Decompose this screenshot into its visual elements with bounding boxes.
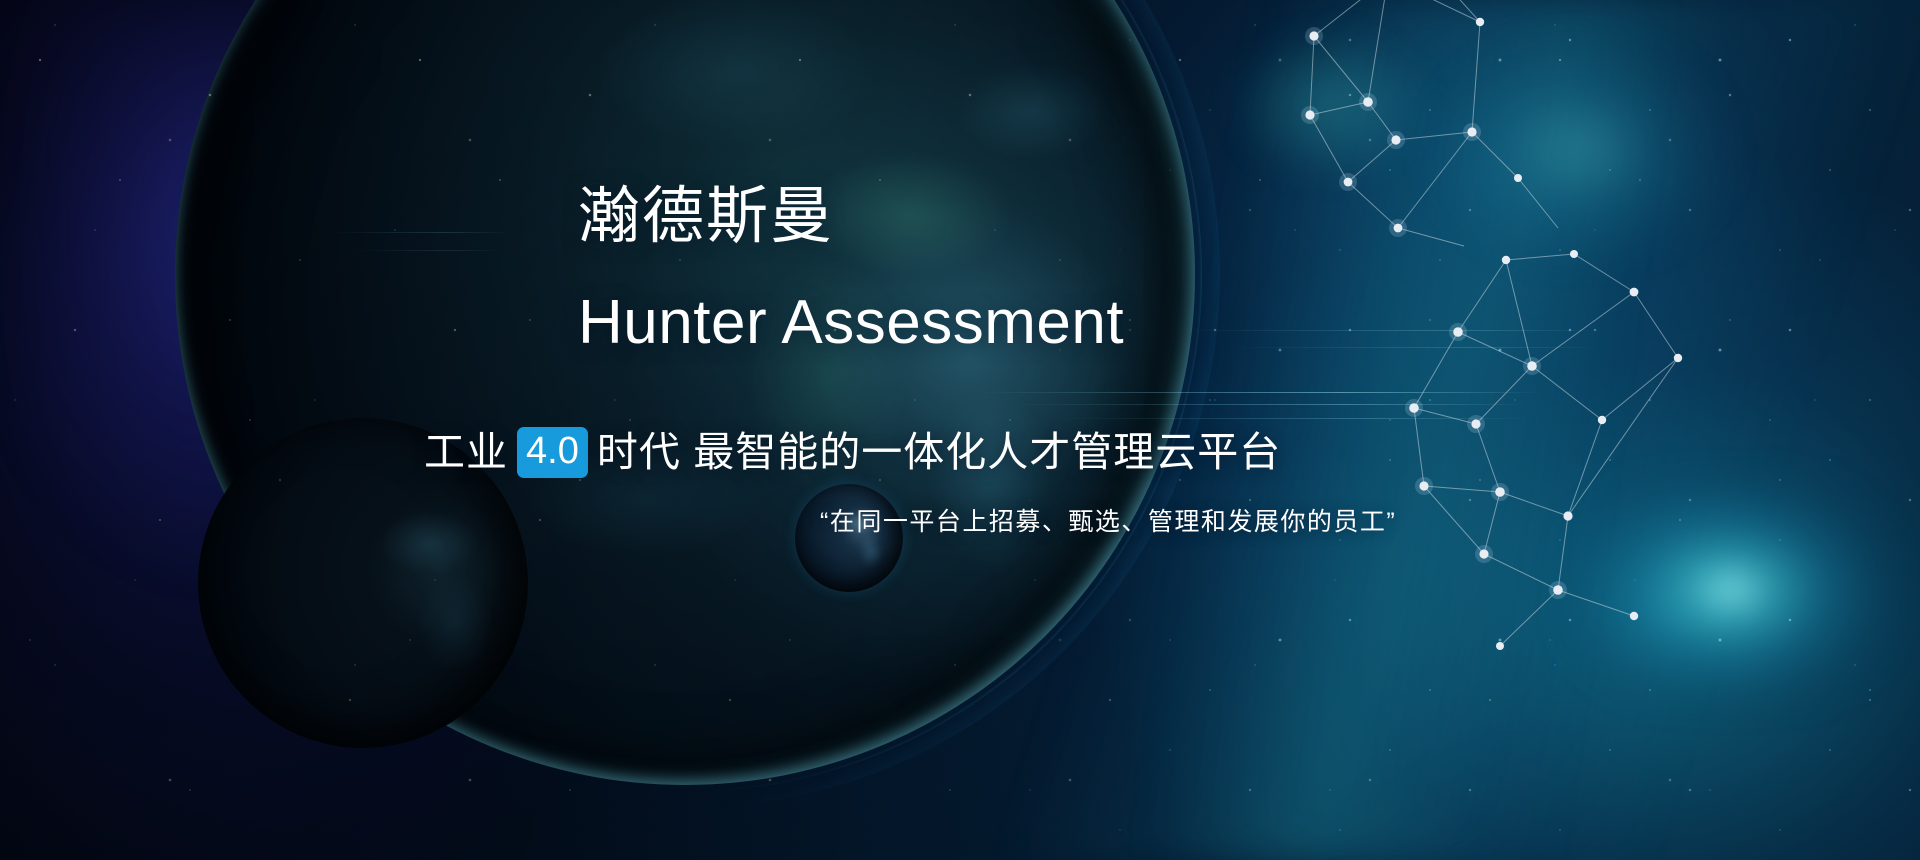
brand-title-english: Hunter Assessment [578,292,1124,354]
hero-text-block: 瀚德斯曼 Hunter Assessment 工业 4.0 时代 最智能的一体化… [0,0,1920,860]
tagline-quote: “在同一平台上招募、甄选、管理和发展你的员工” [820,510,1396,535]
subtitle-suffix: 时代 最智能的一体化人才管理云平台 [597,432,1281,473]
subtitle-prefix: 工业 [424,432,508,473]
hero-banner: 瀚德斯曼 Hunter Assessment 工业 4.0 时代 最智能的一体化… [0,0,1920,860]
brand-title-chinese: 瀚德斯曼 [578,186,834,248]
industry-version-badge: 4.0 [517,427,588,478]
tagline-primary: 工业 4.0 时代 最智能的一体化人才管理云平台 [424,427,1281,478]
